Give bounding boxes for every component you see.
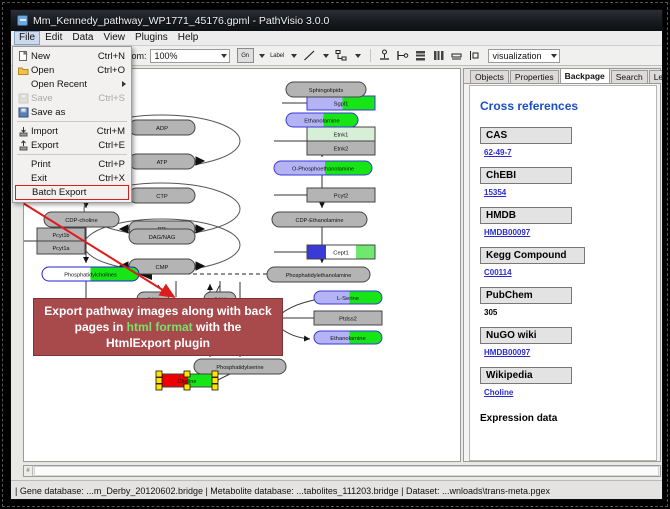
metabolite-node-l-serine[interactable]: L-Serine — [314, 291, 382, 304]
status-text: | Gene database: ...m_Derby_20120602.bri… — [15, 486, 550, 496]
gene-node-etnk1[interactable]: Etnk1 — [307, 127, 375, 141]
file-menu-item-accel: Ctrl+S — [98, 93, 131, 104]
callout-highlight: html format — [127, 320, 193, 334]
menu-plugins[interactable]: Plugins — [130, 31, 173, 45]
metabolite-node-o-phosphoethanolamine[interactable]: O-Phosphoethanolamine — [274, 161, 372, 175]
visualization-value: visualization — [493, 51, 542, 61]
toolbar-separator — [370, 49, 371, 62]
folder-icon — [15, 65, 31, 76]
gene-label-cept1: Cept1 — [333, 251, 348, 257]
align-left-icon[interactable] — [394, 48, 411, 63]
metabolite-label-atp: ATP — [157, 160, 168, 166]
metabolite-node-phosphatidylserine[interactable]: Phosphatidylserine — [194, 359, 286, 374]
file-menu-item-label: New — [31, 51, 98, 62]
selection-handle[interactable] — [156, 384, 162, 390]
metabolite-node-ctp[interactable]: CTP — [129, 188, 195, 203]
file-menu-item-label: Open — [31, 65, 97, 76]
label-tool-button[interactable]: Label — [269, 48, 286, 63]
metabolite-label-phosphatidylcholines: Phosphatidylcholines — [64, 273, 117, 279]
interaction-dropdown[interactable] — [351, 48, 360, 63]
chevron-down-icon — [323, 54, 329, 58]
xref-value-kegg[interactable]: C00114 — [484, 268, 646, 277]
metabolite-node-cdp-choline[interactable]: CDP-choline — [44, 212, 119, 227]
gene-label-ptdss2: Ptdss2 — [339, 317, 357, 323]
file-menu-item-label: Import — [31, 126, 97, 137]
xref-value-cas[interactable]: 62-49-7 — [484, 148, 646, 157]
tab-objects[interactable]: Objects — [470, 70, 509, 83]
gene-label-sgpl1: Sgpl1 — [334, 102, 349, 108]
align-width-icon[interactable] — [466, 48, 483, 63]
gene-node-pcyt1a[interactable]: Pcyt1a — [37, 241, 85, 254]
xref-header-hmdb: HMDB — [480, 207, 572, 224]
menu-edit[interactable]: Edit — [40, 31, 67, 45]
file-menu-item-accel: Ctrl+X — [98, 173, 131, 184]
callout-line-2: pages in html format with the — [75, 319, 242, 335]
file-menu-item-label: Save as — [31, 107, 125, 118]
metabolite-label-o-phosphoethanolamine: O-Phosphoethanolamine — [292, 167, 354, 173]
metabolite-node-choline-selected[interactable]: Choline — [156, 371, 218, 390]
title-bar: Mm_Kennedy_pathway_WP1771_45176.gpml - P… — [11, 10, 662, 31]
callout-annotation: Export pathway images along with back pa… — [33, 298, 283, 356]
menu-bar: File Edit Data View Plugins Help — [11, 31, 662, 46]
metabolite-node-ethanolamine-top[interactable]: Ethanolamine — [286, 113, 358, 127]
datanode-dropdown[interactable] — [255, 48, 264, 63]
chevron-down-icon — [221, 54, 227, 58]
metabolite-label-l-serine: L-Serine — [337, 296, 359, 302]
gene-node-etnk2[interactable]: Etnk2 — [307, 141, 375, 155]
chevron-down-icon — [259, 54, 265, 58]
metabolite-label-ethanolamine-top: Ethanolamine — [304, 119, 339, 125]
datanode-tool-button[interactable]: Gn — [237, 48, 254, 63]
visualization-combo[interactable]: visualization — [488, 49, 560, 63]
tab-legend[interactable]: Legend — [649, 70, 663, 83]
file-menu-item-label: Exit — [31, 173, 98, 184]
gene-label-pcyt2: Pcyt2 — [334, 194, 349, 200]
chevron-down-icon — [355, 54, 361, 58]
metabolite-label-dag-nag: DAG/NAG — [149, 235, 176, 241]
side-panel: Objects Properties Backpage Search Legen… — [463, 68, 661, 462]
file-menu-item-exit[interactable]: ExitCtrl+X — [13, 171, 131, 185]
backpage-content: Cross references CAS 62-49-7 ChEBI 15354… — [469, 85, 657, 461]
file-menu-item-label: Save — [31, 93, 98, 104]
gene-node-cept1[interactable]: Cept1 — [307, 245, 375, 259]
menu-file[interactable]: File — [14, 31, 40, 45]
pathvisio-application-window: Mm_Kennedy_pathway_WP1771_45176.gpml - P… — [10, 9, 663, 500]
metabolite-label-ctp: CTP — [156, 194, 168, 200]
metabolite-node-sphingolipids[interactable]: Sphingolipids — [286, 82, 366, 97]
callout-line-3: HtmlExport plugin — [106, 335, 210, 351]
file-menu-item-batch-export[interactable]: Batch Export — [15, 185, 129, 200]
selection-handle[interactable] — [184, 371, 190, 377]
xref-value-chebi[interactable]: 15354 — [484, 188, 646, 197]
xref-header-chebi: ChEBI — [480, 167, 572, 184]
gene-node-pcyt1b[interactable]: Pcyt1b — [37, 228, 85, 241]
gene-label-etnk1: Etnk1 — [334, 133, 349, 139]
file-menu-item-export[interactable]: ExportCtrl+E — [13, 138, 131, 152]
selection-handle[interactable] — [156, 378, 162, 384]
menu-help[interactable]: Help — [173, 31, 204, 45]
line-tool-button[interactable] — [301, 48, 318, 63]
xref-value-nugo[interactable]: HMDB00097 — [484, 348, 646, 357]
file-menu-item-label: Open Recent — [31, 79, 122, 90]
align-bottom-icon[interactable] — [376, 48, 393, 63]
chevron-down-icon — [551, 54, 557, 58]
menu-separator — [17, 154, 127, 155]
distribute-horizontal-icon[interactable] — [430, 48, 447, 63]
gene-node-pcyt2[interactable]: Pcyt2 — [307, 188, 375, 202]
metabolite-label-phosphatidylethanolamine: Phosphatidylethanolamine — [286, 273, 352, 279]
xref-value-hmdb[interactable]: HMDB00097 — [484, 228, 646, 237]
xref-value-wikipedia[interactable]: Choline — [484, 388, 646, 397]
scroll-corner-icon: # — [24, 466, 33, 476]
file-menu-item-print[interactable]: PrintCtrl+P — [13, 157, 131, 171]
pathvisio-icon — [17, 15, 28, 26]
metabolite-node-adp[interactable]: ADP — [129, 120, 195, 135]
selection-handle[interactable] — [212, 371, 218, 377]
xref-header-cas: CAS — [480, 127, 572, 144]
expression-data-title: Expression data — [480, 413, 646, 424]
gene-label-pcyt1a: Pcyt1a — [52, 246, 70, 252]
save-as-icon — [15, 107, 31, 118]
metabolite-node-dag-nag[interactable]: DAG/NAG — [129, 229, 195, 244]
metabolite-label-ethanolamine-bottom: Ethanolamine — [330, 336, 365, 342]
selection-handle[interactable] — [212, 378, 218, 384]
label-icon: Label — [270, 53, 284, 59]
callout-line-2-a: pages in — [75, 320, 127, 334]
save-icon — [15, 93, 31, 104]
export-icon — [15, 140, 31, 151]
tab-properties[interactable]: Properties — [510, 70, 559, 83]
metabolite-node-phosphatidylcholines[interactable]: Phosphatidylcholines — [42, 267, 139, 281]
file-menu-item-save-as[interactable]: Save as — [13, 105, 131, 119]
file-menu-item-open[interactable]: OpenCtrl+O — [13, 63, 131, 77]
file-menu-dropdown: NewCtrl+NOpenCtrl+OOpen RecentSaveCtrl+S… — [12, 46, 132, 203]
selection-handle[interactable] — [184, 384, 190, 390]
menu-separator — [17, 121, 127, 122]
label-dropdown[interactable] — [287, 48, 296, 63]
file-menu-item-new[interactable]: NewCtrl+N — [13, 49, 131, 63]
tab-search[interactable]: Search — [611, 70, 648, 83]
window-title: Mm_Kennedy_pathway_WP1771_45176.gpml - P… — [33, 15, 329, 27]
line-dropdown[interactable] — [319, 48, 328, 63]
stack-icon[interactable] — [448, 48, 465, 63]
file-menu-item-accel: Ctrl+E — [98, 140, 131, 151]
xref-header-wikipedia: Wikipedia — [480, 367, 572, 384]
gene-label-pcyt1b: Pcyt1b — [52, 233, 69, 239]
chevron-down-icon — [291, 54, 297, 58]
file-menu-item-label: Export — [31, 140, 98, 151]
metabolite-node-ethanolamine-bottom[interactable]: Ethanolamine — [314, 331, 382, 344]
zoom-value: 100% — [155, 51, 178, 61]
metabolite-node-atp[interactable]: ATP — [129, 154, 195, 169]
metabolite-label-sphingolipids: Sphingolipids — [309, 88, 344, 94]
outer-frame: Mm_Kennedy_pathway_WP1771_45176.gpml - P… — [0, 0, 670, 509]
gene-label-etnk2: Etnk2 — [334, 147, 349, 153]
file-menu-item-open-recent[interactable]: Open Recent — [13, 77, 131, 91]
interaction-icon — [335, 49, 348, 62]
gene-product-icon: Gn — [241, 53, 249, 59]
horizontal-scrollbar[interactable] — [34, 466, 659, 476]
file-menu-item-accel: Ctrl+P — [98, 159, 131, 170]
metabolite-label-cmp: CMP — [156, 265, 169, 271]
import-icon — [15, 126, 31, 137]
xref-header-pubchem: PubChem — [480, 287, 572, 304]
selection-handle[interactable] — [156, 371, 162, 377]
new-file-icon — [15, 51, 31, 62]
interaction-tool-button[interactable] — [333, 48, 350, 63]
gene-node-ptdss2[interactable]: Ptdss2 — [314, 311, 382, 325]
distribute-vertical-icon[interactable] — [412, 48, 429, 63]
selection-handle[interactable] — [212, 384, 218, 390]
cross-references-title: Cross references — [480, 99, 646, 113]
file-menu-item-save: SaveCtrl+S — [13, 91, 131, 105]
xref-header-kegg: Kegg Compound — [480, 247, 585, 264]
file-menu-item-label: Print — [31, 159, 98, 170]
file-menu-item-accel: Ctrl+M — [97, 126, 131, 137]
bottom-scroll-strip[interactable]: # — [23, 465, 661, 477]
callout-line-1: Export pathway images along with back — [44, 303, 271, 319]
file-menu-item-accel: Ctrl+O — [97, 65, 131, 76]
zoom-combo[interactable]: 100% — [150, 49, 230, 63]
metabolite-label-adp: ADP — [156, 126, 168, 132]
menu-data[interactable]: Data — [67, 31, 98, 45]
side-panel-tabs: Objects Properties Backpage Search Legen… — [464, 69, 660, 84]
menu-view[interactable]: View — [98, 31, 130, 45]
tab-backpage[interactable]: Backpage — [560, 68, 610, 83]
metabolite-label-cdp-ethanolamine: CDP-Ethanolamine — [296, 218, 344, 224]
file-menu-item-import[interactable]: ImportCtrl+M — [13, 124, 131, 138]
metabolite-node-phosphatidylethanolamine[interactable]: Phosphatidylethanolamine — [267, 267, 370, 282]
chevron-right-icon — [122, 81, 126, 87]
file-menu-item-label: Batch Export — [32, 187, 122, 198]
line-icon — [303, 49, 316, 62]
xref-header-nugo: NuGO wiki — [480, 327, 572, 344]
gene-node-sgpl1[interactable]: Sgpl1 — [307, 96, 375, 110]
file-menu-item-accel: Ctrl+N — [98, 51, 131, 62]
status-bar: | Gene database: ...m_Derby_20120602.bri… — [11, 480, 662, 500]
metabolite-node-cdp-ethanolamine[interactable]: CDP-Ethanolamine — [272, 212, 367, 227]
metabolite-label-phosphatidylserine: Phosphatidylserine — [216, 365, 263, 371]
metabolite-label-cdp-choline: CDP-choline — [65, 218, 98, 224]
callout-line-2-b: with the — [193, 320, 242, 334]
xref-value-pubchem: 305 — [484, 308, 646, 317]
